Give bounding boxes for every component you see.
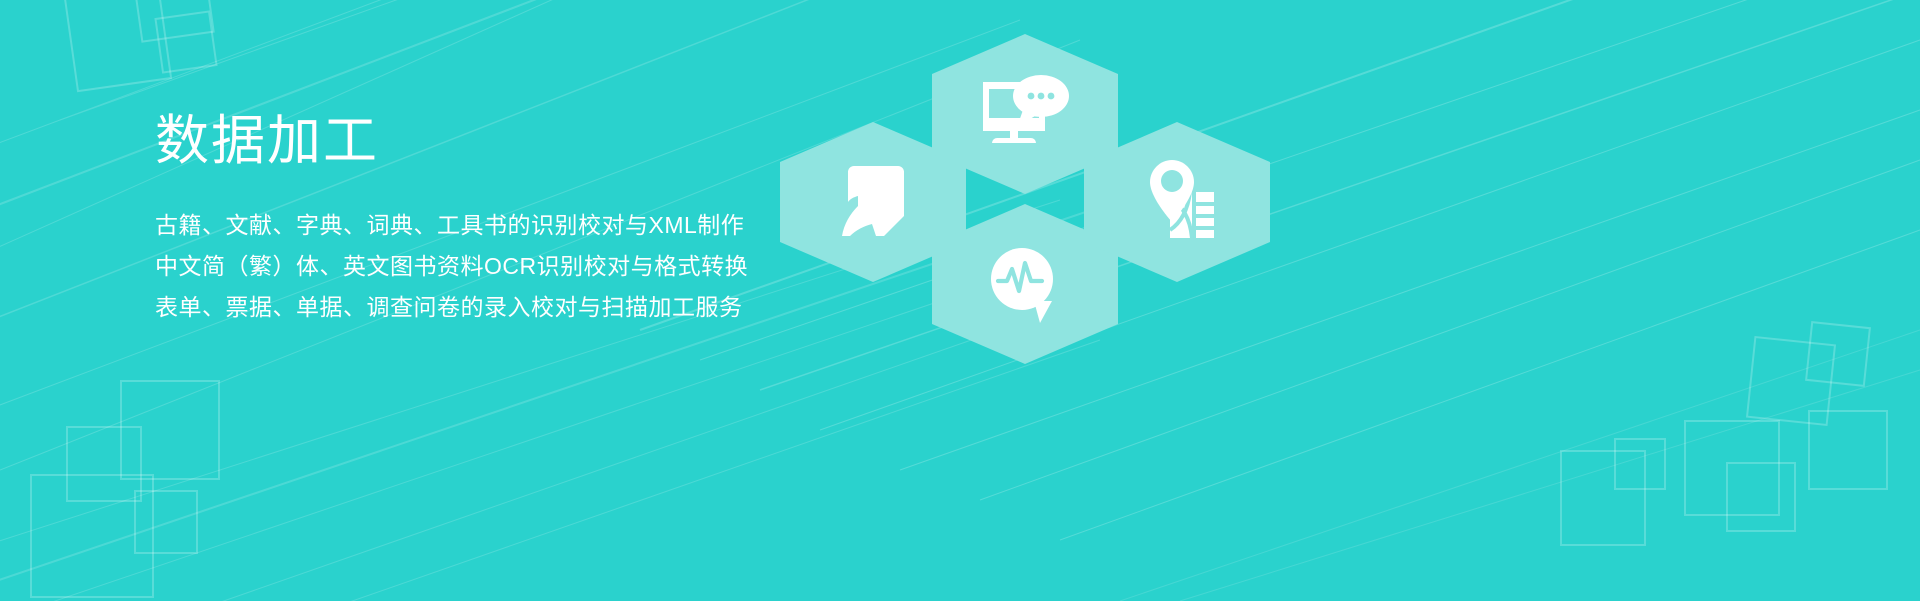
square-decoration-bottom-left (30, 370, 290, 601)
banner: 数据加工 古籍、文献、字典、词典、工具书的识别校对与XML制作 中文简（繁）体、… (0, 0, 1920, 601)
map-pin-icon (1134, 156, 1220, 248)
square-decoration-bottom-right (1560, 410, 1920, 601)
heartbeat-bubble-icon (986, 243, 1064, 325)
hexagon-icon-cluster (780, 14, 1300, 374)
thumbs-up-hand-icon (836, 160, 910, 244)
monitor-chat-icon (979, 74, 1071, 154)
square-decoration-right-middle (1740, 330, 1920, 490)
